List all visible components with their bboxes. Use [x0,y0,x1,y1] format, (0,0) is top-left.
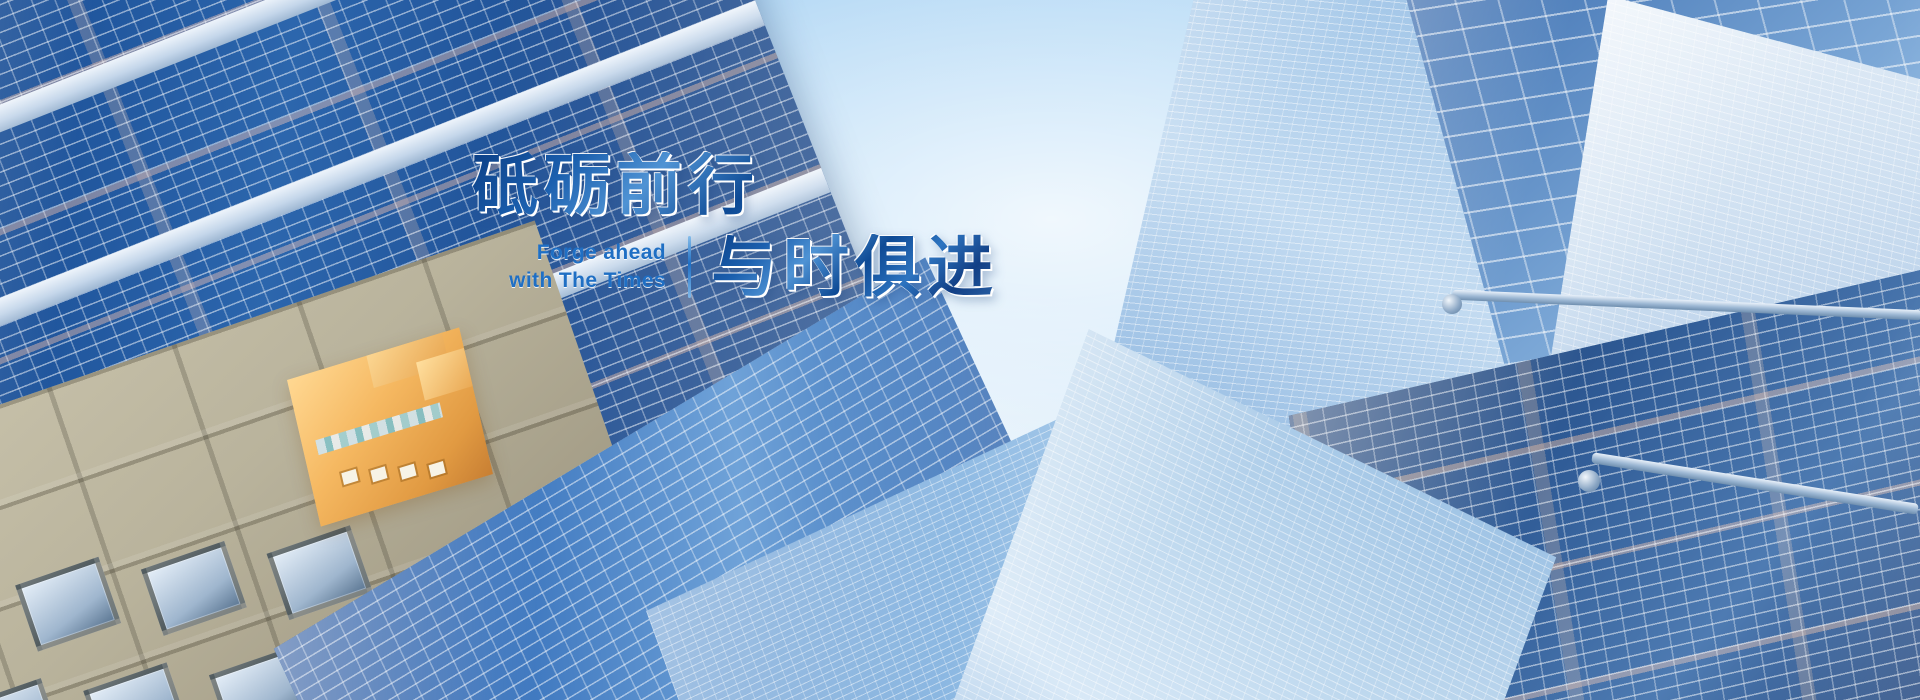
orange-tile-strip [316,402,443,455]
orange-window [428,461,445,477]
subtitle-english-line-1: Forge ahead [470,239,666,267]
subtitle-english: Forge ahead with The Times [470,239,666,296]
subtitle-row: Forge ahead with The Times 与时俱进 [470,234,1010,300]
orange-window [399,464,416,480]
vertical-divider [688,236,691,298]
headline-line-2: 与时俱进 [711,234,999,300]
antenna-knob-lower [1578,470,1600,492]
subtitle-english-line-2: with The Times [470,267,666,295]
orange-window [371,466,388,482]
hero-banner: 砥砺前行 Forge ahead with The Times 与时俱进 [0,0,1920,700]
antenna-knob-upper [1442,294,1462,314]
orange-window [342,469,359,485]
headline-block: 砥砺前行 Forge ahead with The Times 与时俱进 [470,152,1010,300]
headline-line-1: 砥砺前行 [472,152,1010,218]
